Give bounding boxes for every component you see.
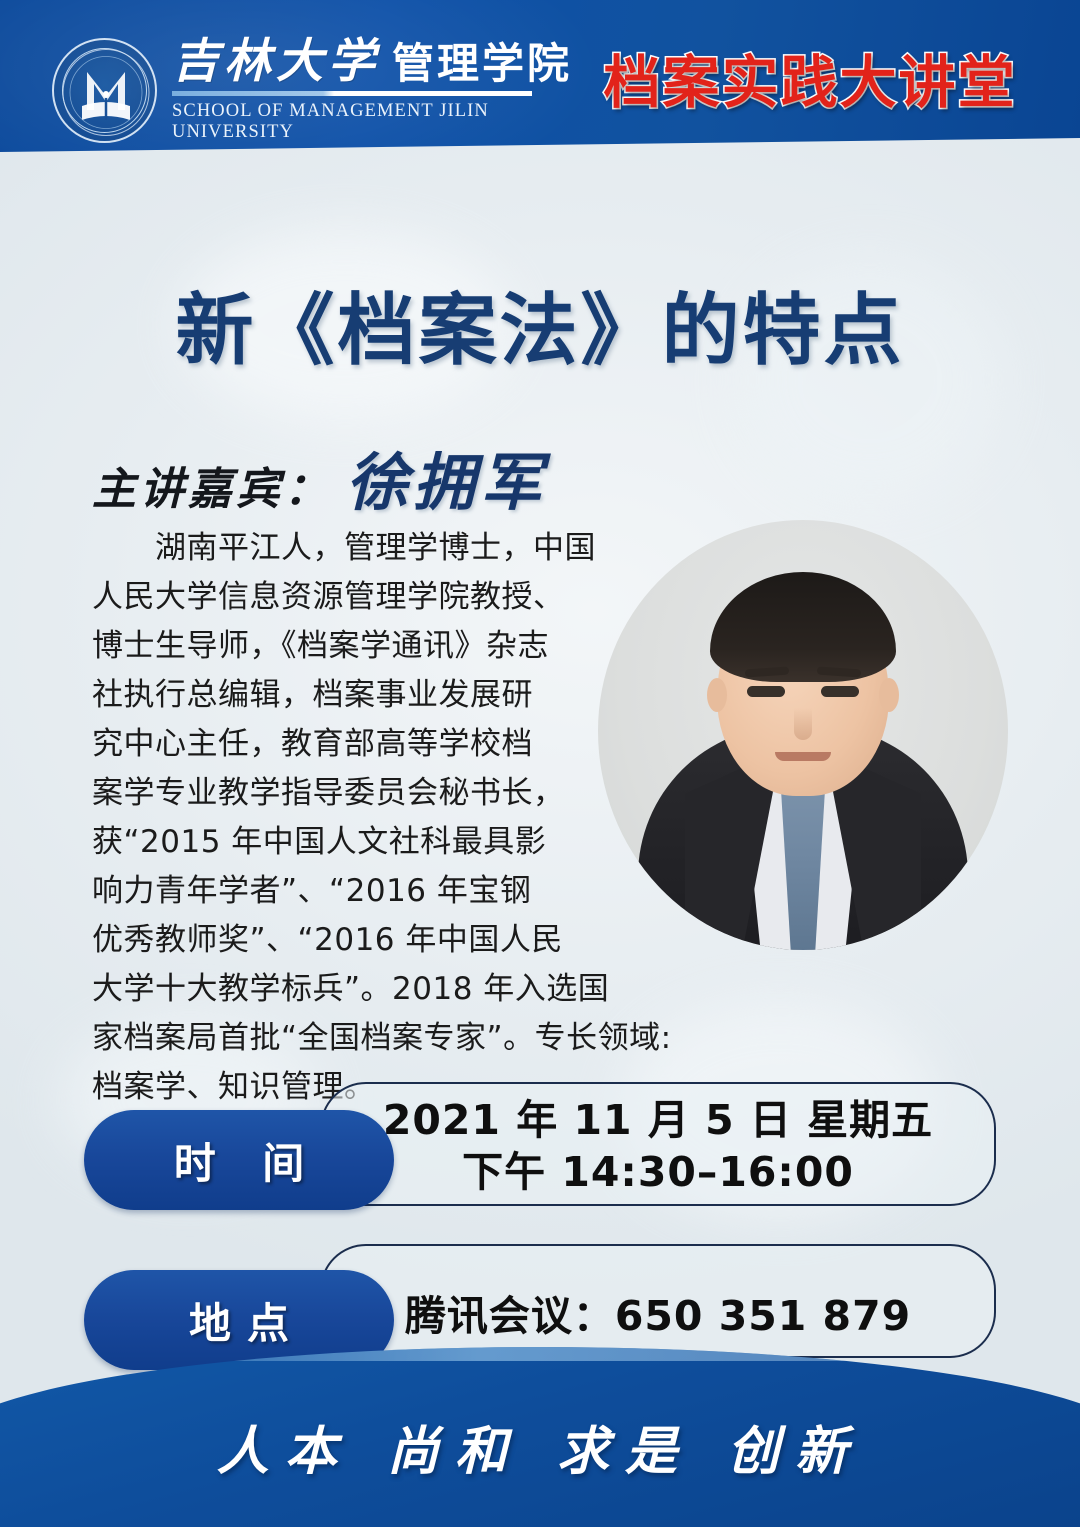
brand-english: SCHOOL OF MANAGEMENT JILIN UNIVERSITY bbox=[172, 101, 572, 143]
speaker-line: 主讲嘉宾： 徐拥军 bbox=[92, 432, 547, 522]
seal-inner-ring bbox=[62, 48, 147, 133]
university-seal-icon bbox=[52, 38, 157, 143]
bio-line: 获“2015 年中国人文社科最具影 bbox=[92, 818, 632, 867]
time-value-line1: 2021 年 11 月 5 日 星期五 bbox=[320, 1094, 996, 1146]
speaker-bio: 湖南平江人，管理学博士，中国人民大学信息资源管理学院教授、博士生导师，《档案学通… bbox=[92, 524, 632, 1112]
bio-line: 优秀教师奖”、“2016 年中国人民 bbox=[92, 916, 632, 965]
bio-line: 究中心主任，教育部高等学校档 bbox=[92, 720, 632, 769]
bio-line: 家档案局首批“全国档案专家”。专长领域: bbox=[92, 1014, 632, 1063]
portrait-ear-right bbox=[879, 678, 899, 712]
brand-university-name: 吉林大学 bbox=[172, 38, 380, 85]
bio-line: 博士生导师，《档案学通讯》杂志 bbox=[92, 622, 632, 671]
time-label: 时 间 bbox=[158, 1130, 321, 1191]
portrait-hair bbox=[710, 572, 896, 682]
poster-header: 吉林大学 管理学院 SCHOOL OF MANAGEMENT JILIN UNI… bbox=[0, 0, 1080, 152]
poster-footer: 人本 尚和 求是 创新 bbox=[0, 1347, 1080, 1527]
seal-emblem-icon bbox=[54, 40, 159, 145]
poster-root: 吉林大学 管理学院 SCHOOL OF MANAGEMENT JILIN UNI… bbox=[0, 0, 1080, 1527]
speaker-label: 主讲嘉宾： bbox=[92, 453, 332, 517]
time-value-line2: 下午 14:30–16:00 bbox=[320, 1146, 996, 1198]
portrait-ear-left bbox=[707, 678, 727, 712]
brand-divider bbox=[172, 91, 532, 96]
bio-line: 湖南平江人，管理学博士，中国 bbox=[92, 524, 632, 573]
brand-chinese: 吉林大学 管理学院 bbox=[172, 38, 572, 85]
portrait-mouth bbox=[775, 752, 831, 761]
place-label: 地点 bbox=[173, 1290, 305, 1351]
place-value: 腾讯会议：650 351 879 bbox=[320, 1282, 996, 1342]
portrait-eye-left bbox=[747, 686, 785, 697]
bio-line: 案学专业教学指导委员会秘书长， bbox=[92, 769, 632, 818]
bio-line: 响力青年学者”、“2016 年宝钢 bbox=[92, 867, 632, 916]
bio-line: 人民大学信息资源管理学院教授、 bbox=[92, 573, 632, 622]
portrait-eye-right bbox=[821, 686, 859, 697]
brand-school-name: 管理学院 bbox=[392, 43, 572, 85]
bio-line: 大学十大教学标兵”。2018 年入选国 bbox=[92, 965, 632, 1014]
portrait-nose bbox=[794, 708, 812, 740]
series-banner-text: 档案实践大讲堂 bbox=[604, 55, 1017, 112]
brand-block: 吉林大学 管理学院 SCHOOL OF MANAGEMENT JILIN UNI… bbox=[172, 38, 572, 143]
speaker-portrait bbox=[598, 520, 1008, 950]
page-title: 新《档案法》的特点 bbox=[0, 268, 1080, 380]
time-label-pill: 时 间 bbox=[84, 1110, 394, 1210]
bio-line: 社执行总编辑，档案事业发展研 bbox=[92, 671, 632, 720]
footer-motto: 人本 尚和 求是 创新 bbox=[0, 1409, 1080, 1484]
series-banner: 档案实践大讲堂 bbox=[584, 48, 1036, 118]
speaker-name: 徐拥军 bbox=[346, 432, 547, 522]
time-value: 2021 年 11 月 5 日 星期五 下午 14:30–16:00 bbox=[320, 1094, 996, 1198]
